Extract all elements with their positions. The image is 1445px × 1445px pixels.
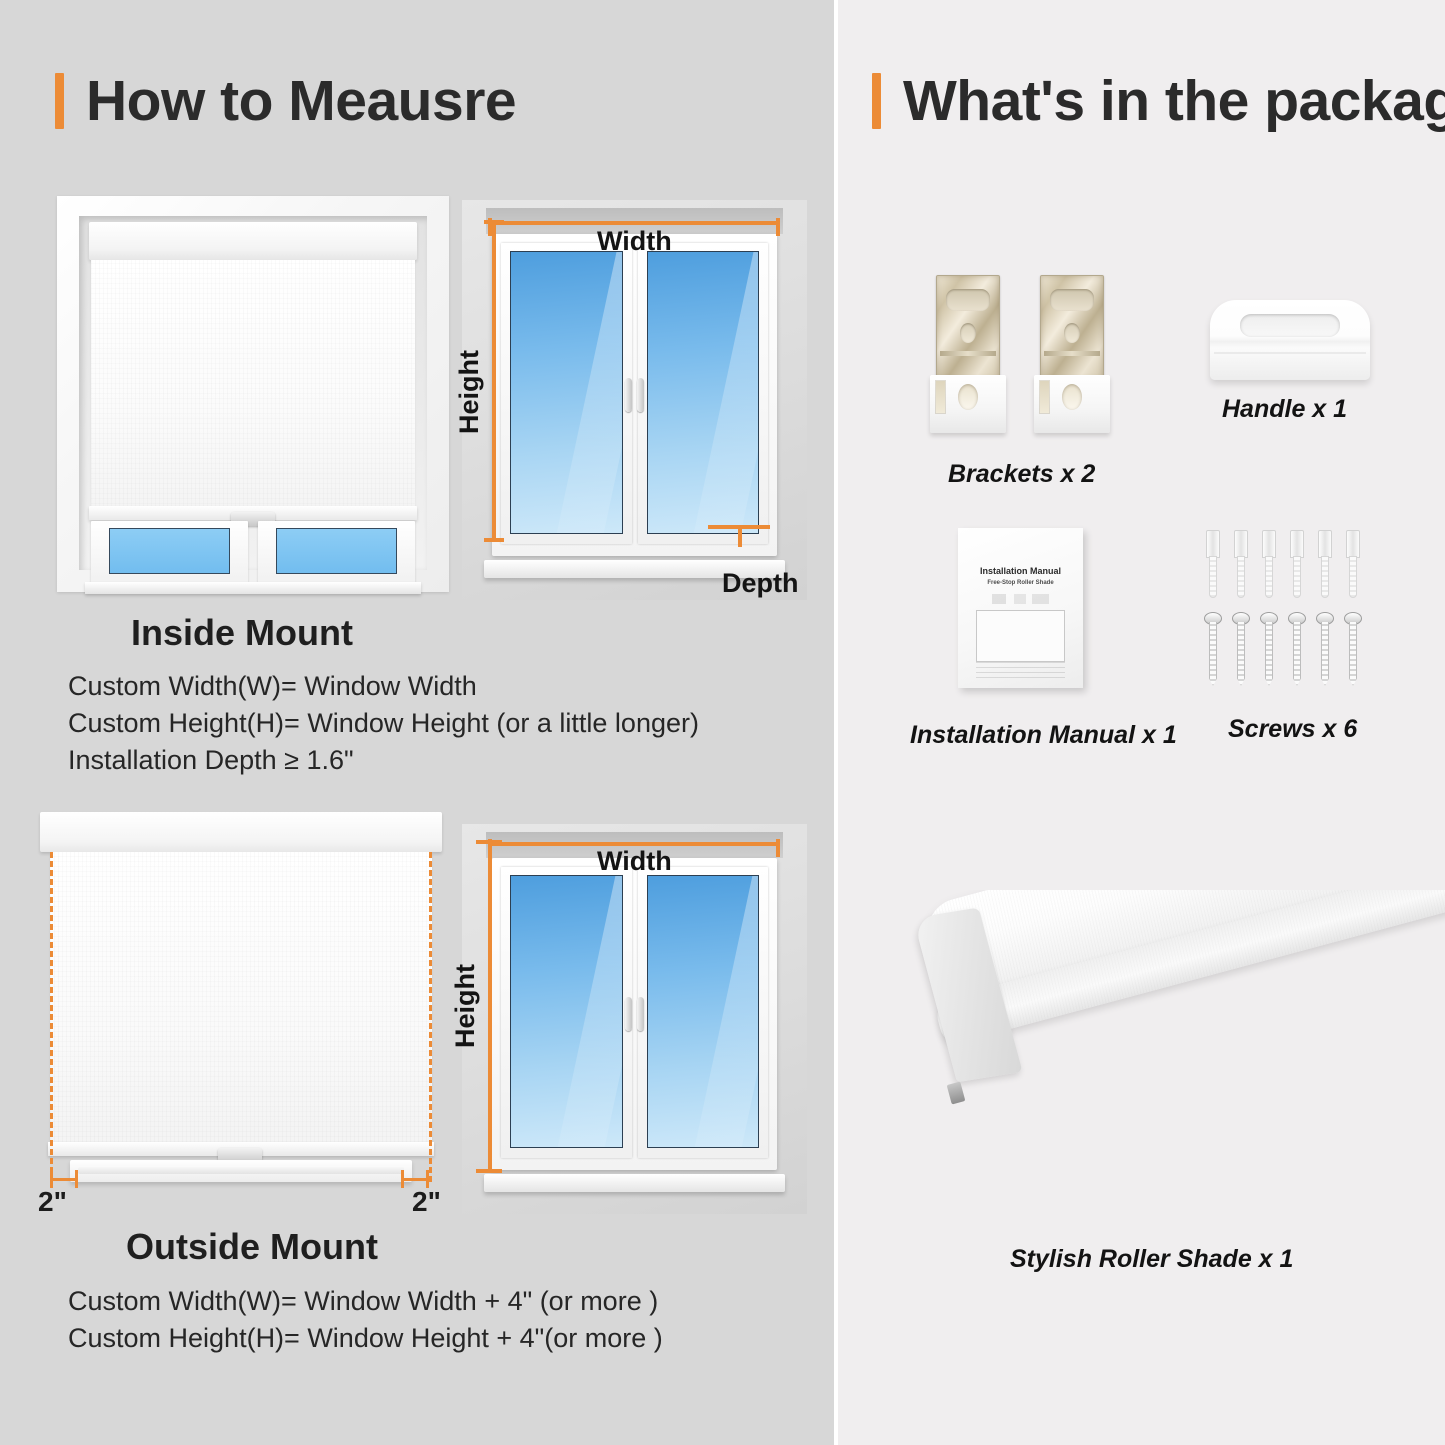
glass-pane (276, 528, 397, 574)
bracket-slot (1050, 289, 1094, 311)
shade-fabric (91, 260, 415, 509)
how-to-measure-heading: How to Meausre (55, 72, 516, 130)
inside-mount-instructions: Custom Width(W)= Window Width Custom Hei… (68, 668, 699, 779)
diagram-window-frame (492, 858, 777, 1170)
inside-mount-line-1: Custom Width(W)= Window Width (68, 668, 699, 704)
wall-anchor (1345, 530, 1361, 598)
bracket-base (1034, 375, 1110, 433)
manual-cover-title: Installation Manual (966, 566, 1075, 576)
bracket-hole (1064, 323, 1080, 343)
diagram-window-handles-icon (622, 997, 648, 1031)
wall-anchor (1317, 530, 1333, 598)
height-label: Height (454, 350, 485, 434)
installation-manual-label: Installation Manual x 1 (910, 721, 1177, 750)
height-label: Height (450, 964, 481, 1048)
screws-image (1205, 530, 1375, 690)
diagram-sash-right (638, 243, 769, 544)
window-sash-right (258, 521, 415, 583)
outside-mount-instructions: Custom Width(W)= Window Width + 4" (or m… (68, 1283, 663, 1357)
diagram-window-sill (484, 1174, 785, 1192)
height-guide-line (488, 843, 492, 1173)
overhang-dashed-line-right (429, 852, 432, 1182)
inside-mount-title: Inside Mount (131, 612, 353, 654)
roller-shade-metal-pin (947, 1082, 966, 1105)
outside-shade-headrail (40, 812, 442, 852)
wall-anchor-row (1205, 530, 1361, 598)
outside-mount-title: Outside Mount (126, 1226, 378, 1268)
screw (1205, 612, 1221, 686)
roller-shade-image (905, 890, 1445, 1210)
outside-shade-fabric (50, 852, 432, 1147)
inside-mount-line-3: Installation Depth ≥ 1.6" (68, 742, 699, 778)
window-sash-left (91, 521, 248, 583)
window-sash-row (91, 521, 415, 583)
inside-mount-illustration (57, 196, 449, 592)
overhang-label-left: 2" (38, 1186, 67, 1218)
diagram-window-frame (492, 234, 777, 556)
bracket-part (1034, 275, 1110, 435)
height-guide-line (492, 222, 496, 542)
diagram-glass-right (647, 251, 760, 534)
accent-bar-icon (55, 73, 64, 129)
bracket-hole (960, 323, 976, 343)
screw (1289, 612, 1305, 686)
overhang-label-right: 2" (412, 1186, 441, 1218)
screw (1345, 612, 1361, 686)
overhang-tick-2 (75, 1170, 78, 1188)
height-guide-cap-top (476, 840, 502, 844)
outside-mount-line-2: Custom Height(H)= Window Height + 4"(or … (68, 1320, 663, 1356)
infographic-page: How to Meausre (0, 0, 1445, 1445)
brackets-label: Brackets x 2 (948, 460, 1095, 489)
diagram-sash-right (638, 867, 769, 1158)
screws-label: Screws x 6 (1228, 715, 1357, 744)
diagram-sash-left (501, 867, 632, 1158)
height-guide-cap-top (484, 220, 504, 224)
wall-anchor (1233, 530, 1249, 598)
bracket-part (930, 275, 1006, 435)
outside-mount-line-1: Custom Width(W)= Window Width + 4" (or m… (68, 1283, 663, 1319)
depth-label: Depth (722, 568, 799, 599)
screw (1233, 612, 1249, 686)
handle-label: Handle x 1 (1222, 395, 1347, 424)
wall-anchor (1289, 530, 1305, 598)
bracket-bar (1044, 351, 1100, 356)
bracket-slot (946, 289, 990, 311)
overhang-dashed-line-left (50, 852, 53, 1182)
diagram-sash-left (501, 243, 632, 544)
window-recess (79, 216, 427, 570)
depth-guide-tick (738, 525, 742, 547)
overhang-tick-3 (401, 1170, 404, 1188)
width-label: Width (597, 846, 672, 877)
how-to-measure-title: How to Meausre (86, 72, 516, 130)
glass-pane (109, 528, 230, 574)
inside-mount-line-2: Custom Height(H)= Window Height (or a li… (68, 705, 699, 741)
brackets-image (930, 275, 1110, 440)
height-guide-cap-bottom (476, 1169, 502, 1173)
manual-cover-footer-text (976, 662, 1065, 678)
window-measure-diagram-inside: Width Height Depth (462, 200, 807, 600)
accent-bar-icon (872, 73, 881, 129)
bracket-base (930, 375, 1006, 433)
diagram-glass-left (510, 251, 623, 534)
wall-anchor (1261, 530, 1277, 598)
overhang-measure-right (401, 1178, 429, 1181)
screw (1261, 612, 1277, 686)
width-label: Width (597, 226, 672, 257)
window-sill (85, 582, 421, 594)
manual-cover-subtitle: Free-Stop Roller Shade (966, 580, 1075, 586)
shade-headrail (89, 222, 417, 260)
diagram-window-handles-icon (622, 378, 648, 412)
outside-mount-illustration (30, 812, 450, 1202)
width-guide-line (490, 221, 780, 225)
package-title: What's in the package (903, 72, 1445, 130)
width-guide-cap-right (776, 218, 780, 236)
overhang-measure-left (50, 1178, 78, 1181)
diagram-glass-right (647, 875, 760, 1148)
manual-cover-scribble (992, 594, 1049, 604)
diagram-glass-left (510, 875, 623, 1148)
outside-window-sill (70, 1160, 412, 1182)
height-guide-cap-bottom (484, 538, 504, 542)
handle-image (1210, 300, 1370, 380)
width-guide-cap-right (776, 839, 780, 857)
bracket-bar (940, 351, 996, 356)
screw (1317, 612, 1333, 686)
roller-shade-label: Stylish Roller Shade x 1 (1010, 1245, 1293, 1274)
package-heading: What's in the package (872, 72, 1445, 130)
screw-row (1205, 612, 1361, 686)
window-measure-diagram-outside: Width Height (462, 824, 807, 1214)
installation-manual-image: Installation Manual Free-Stop Roller Sha… (958, 528, 1083, 688)
wall-anchor (1205, 530, 1221, 598)
manual-cover-illustration-box (976, 610, 1065, 662)
